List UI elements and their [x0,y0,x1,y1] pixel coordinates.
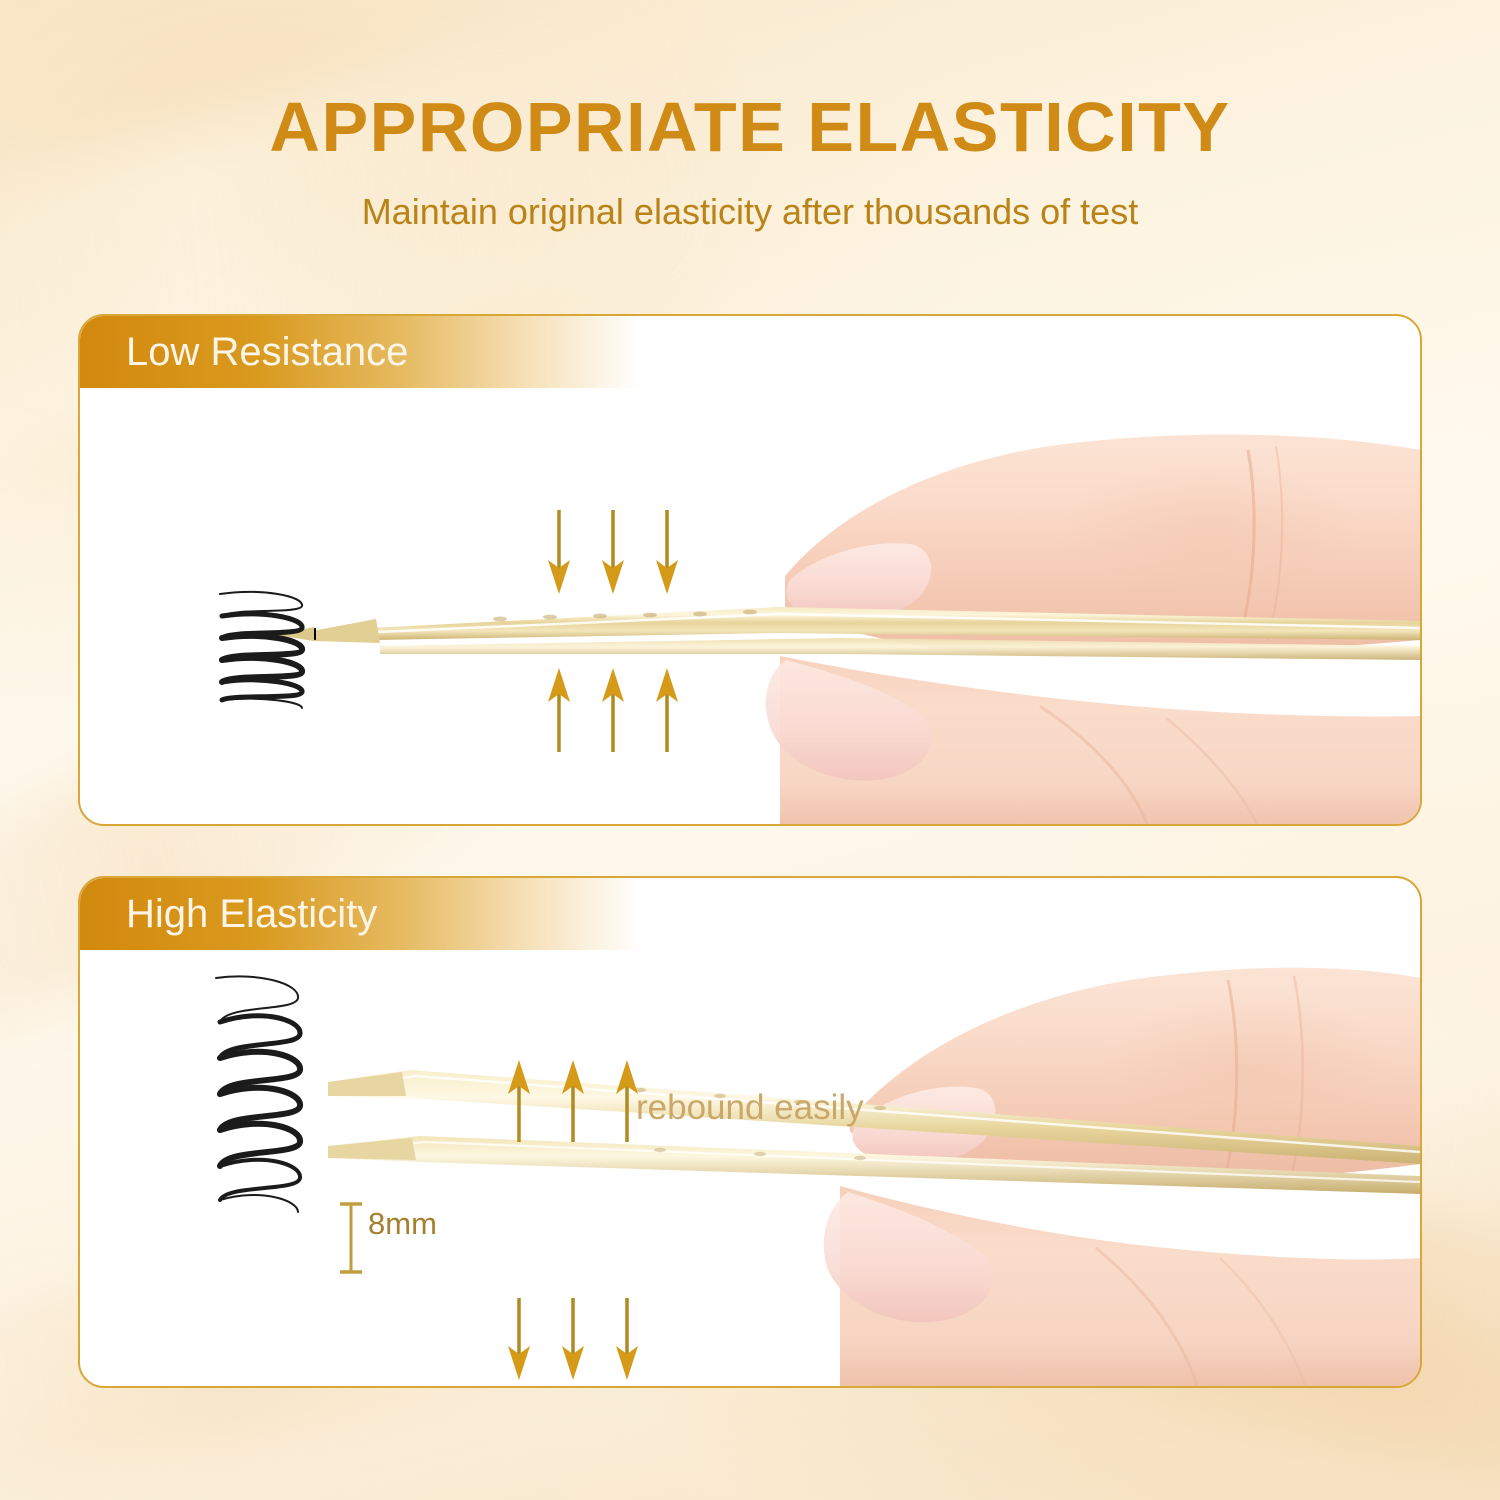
arrow-down-icon [600,510,626,594]
arrow-down-icon [560,1298,586,1380]
arrow-down-icon [614,1298,640,1380]
arrow-up-icon [654,668,680,752]
panel-low-resistance: Low Resistance [78,314,1422,826]
panel-body-low-resistance [80,388,1420,824]
page-title: APPROPRIATE ELASTICITY [0,92,1500,162]
gap-measurement-label: 8mm [368,1208,437,1239]
gap-measurement-marker [338,1200,364,1281]
panel-high-elasticity: High Elasticity [78,876,1422,1388]
arrow-down-icon [546,510,572,594]
badge-label: High Elasticity [80,894,377,934]
badge-label: Low Resistance [80,332,408,372]
arrows-pressing-down [546,510,680,594]
badge-low-resistance: Low Resistance [80,316,640,388]
arrow-down-icon [654,510,680,594]
compressed-coil-spring-icon [202,586,322,721]
header: APPROPRIATE ELASTICITY Maintain original… [0,92,1500,230]
page-subtitle: Maintain original elasticity after thous… [0,194,1500,230]
panel-body-high-elasticity: rebound easily 8mm [80,950,1420,1386]
arrows-rebound-up [506,1060,640,1142]
rebound-label: rebound easily [636,1090,864,1125]
arrows-pressing-up [546,668,680,752]
arrow-up-icon [506,1060,532,1142]
arrow-up-icon [560,1060,586,1142]
infographic-canvas: APPROPRIATE ELASTICITY Maintain original… [0,0,1500,1500]
arrow-down-icon [506,1298,532,1380]
badge-high-elasticity: High Elasticity [80,878,640,950]
arrows-press-down [506,1298,640,1380]
arrow-up-icon [546,668,572,752]
extended-coil-spring-icon [202,972,322,1227]
arrow-up-icon [600,668,626,752]
